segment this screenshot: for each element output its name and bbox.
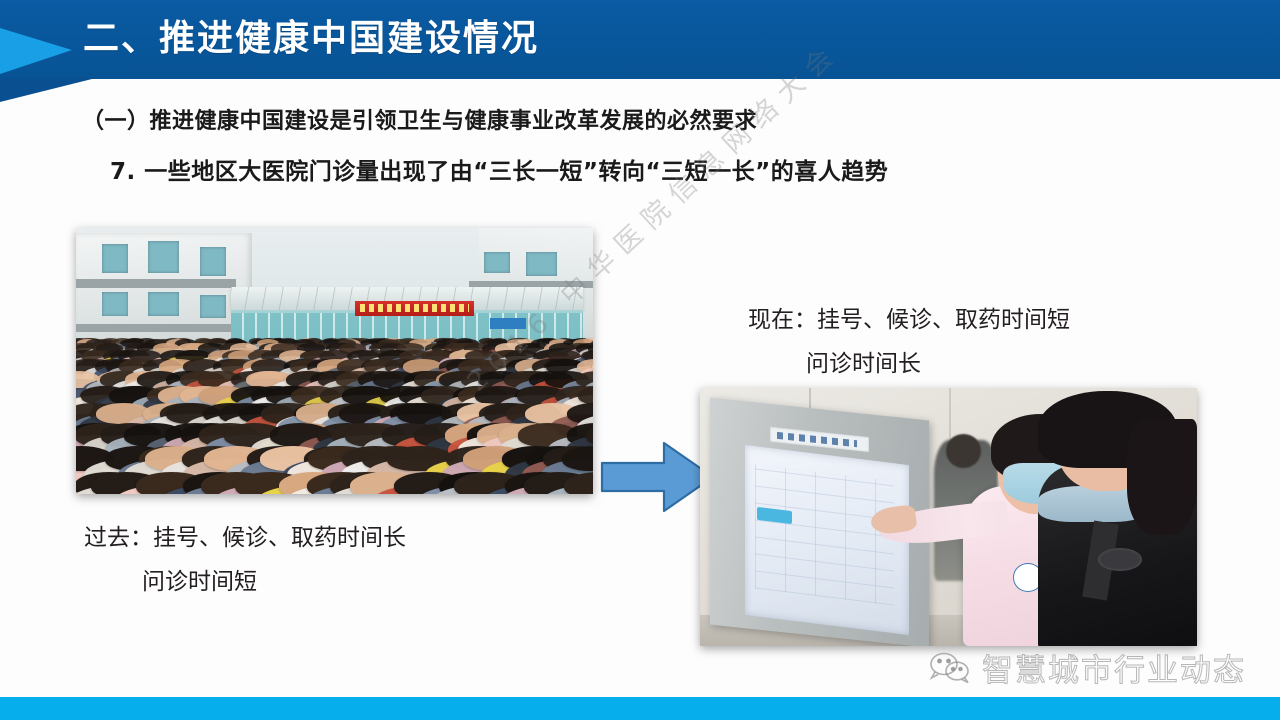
wechat-icon xyxy=(928,651,972,685)
left-photo-crowded-hospital xyxy=(76,228,593,494)
right-photo-caption: 现在：挂号、候诊、取药时间短 问诊时间长 xyxy=(748,298,1070,386)
slide-footer-bar xyxy=(0,697,1280,720)
section-subtitle: （一）推进健康中国建设是引领卫生与健康事业改革发展的必然要求 xyxy=(82,103,757,135)
kiosk-photo-background-person-head xyxy=(946,434,981,468)
photo-red-banner-text xyxy=(360,304,469,312)
right-photo-self-service-kiosk xyxy=(700,388,1197,646)
slide-canvas: 二、推进健康中国建设情况 （一）推进健康中国建设是引领卫生与健康事业改革发展的必… xyxy=(0,0,1280,720)
right-caption-line-1: 现在：挂号、候诊、取药时间短 xyxy=(748,307,1070,333)
section-point-7: 7. 一些地区大医院门诊量出现了由“三长一短”转向“三短一长”的喜人趋势 xyxy=(110,152,888,186)
left-caption-line-1: 过去：挂号、候诊、取药时间长 xyxy=(84,525,406,551)
header-corner-wedge-icon xyxy=(0,78,96,102)
photo-crowd xyxy=(76,334,593,494)
right-caption-line-2: 问诊时间长 xyxy=(748,342,1070,386)
left-caption-line-2: 问诊时间短 xyxy=(84,560,406,604)
left-photo-caption: 过去：挂号、候诊、取药时间长 问诊时间短 xyxy=(84,516,406,604)
header-accent-triangle-icon xyxy=(0,28,72,74)
brand-watermark-text: 智慧城市行业动态 xyxy=(982,645,1246,690)
patient-hair-side xyxy=(1127,419,1197,535)
page-title: 二、推进健康中国建设情况 xyxy=(83,16,539,62)
transition-arrow xyxy=(600,437,716,517)
brand-watermark: 智慧城市行业动态 xyxy=(928,645,1246,690)
right-arrow-icon xyxy=(600,437,716,517)
photo-blue-sign xyxy=(490,318,526,329)
kiosk-screen-menu-grid xyxy=(755,465,894,606)
